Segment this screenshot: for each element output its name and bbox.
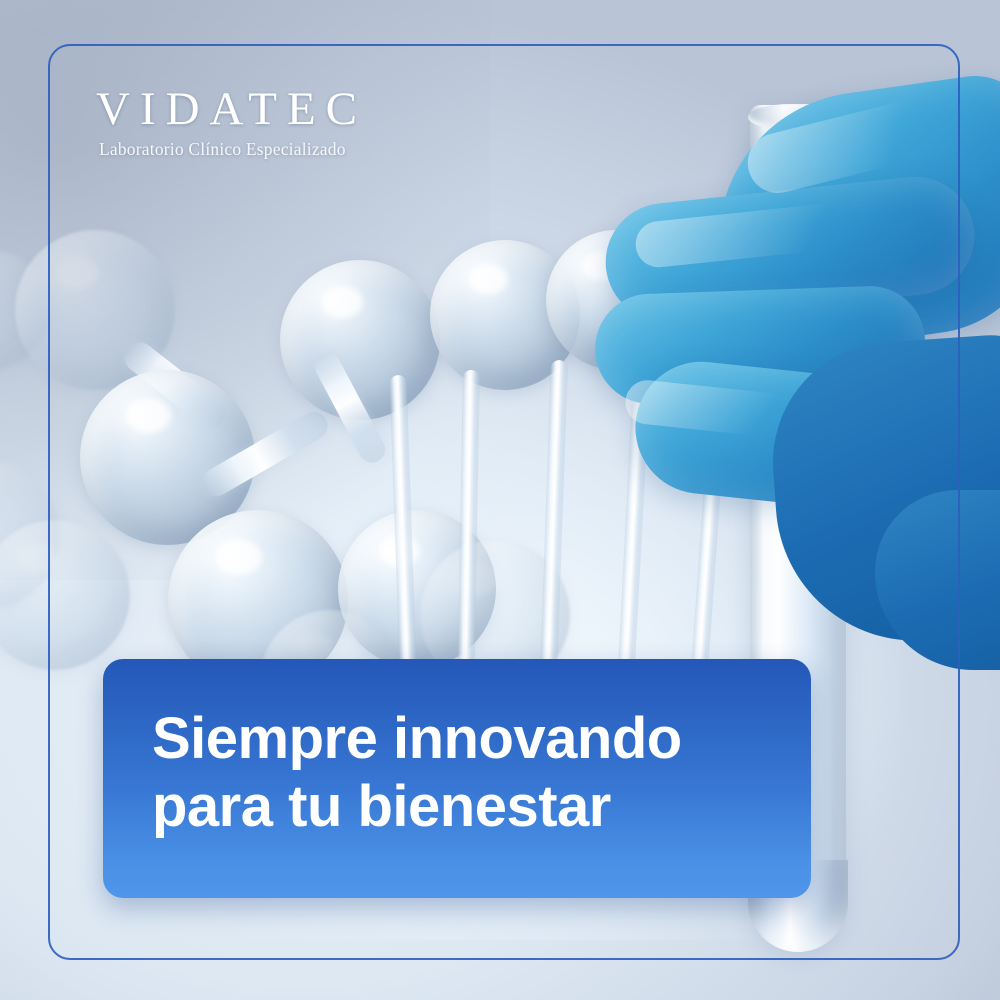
dna-bead: [280, 260, 440, 420]
dna-bead: [0, 520, 130, 670]
brand-name: VIDATEC: [96, 86, 367, 133]
gloved-hand: [595, 90, 1000, 630]
poster-canvas: VIDATEC Laboratorio Clínico Especializad…: [0, 0, 1000, 1000]
headline-line-2: para tu bienestar: [152, 773, 792, 841]
headline-line-1: Siempre innovando: [152, 705, 792, 773]
headline-text: Siempre innovando para tu bienestar: [152, 705, 792, 841]
headline-banner: Siempre innovando para tu bienestar: [103, 659, 811, 898]
brand-logo: VIDATEC Laboratorio Clínico Especializad…: [96, 86, 367, 160]
brand-tagline: Laboratorio Clínico Especializado: [99, 139, 367, 160]
